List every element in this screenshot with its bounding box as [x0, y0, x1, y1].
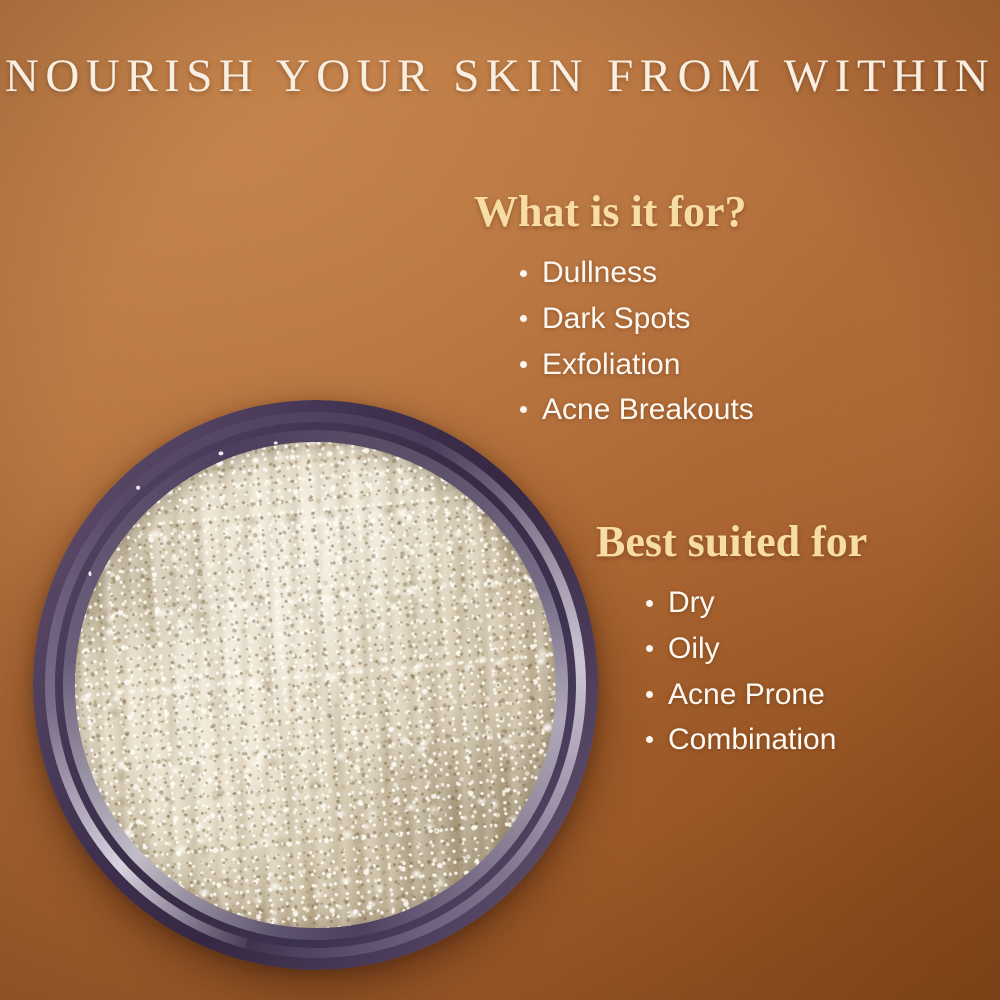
list-item: Dullness — [516, 250, 754, 296]
list-item-label: Acne Breakouts — [542, 393, 754, 426]
page-title: NOURISH YOUR SKIN FROM WITHIN — [0, 52, 1000, 101]
bullet-icon — [520, 270, 527, 277]
list-item: Combination — [642, 717, 867, 763]
list-item: Dry — [642, 580, 867, 626]
bullet-icon — [520, 406, 527, 413]
list-item-label: Dullness — [542, 256, 657, 289]
powder-fine-texture — [55, 422, 577, 948]
skin-type-list: Dry Oily Acne Prone Combination — [642, 580, 867, 762]
section-best-suited-for: Best suited for Dry Oily Acne Prone Comb… — [596, 518, 867, 763]
section-what-is-it-for: What is it for? Dullness Dark Spots Exfo… — [474, 188, 754, 433]
powder-jar-image — [33, 400, 598, 970]
bullet-icon — [646, 691, 653, 698]
list-item-label: Oily — [668, 632, 720, 665]
list-item-label: Exfoliation — [542, 348, 680, 381]
bullet-icon — [520, 315, 527, 322]
bullet-icon — [646, 645, 653, 652]
bullet-icon — [520, 361, 527, 368]
bullet-icon — [646, 600, 653, 607]
list-item: Oily — [642, 626, 867, 672]
list-item: Acne Breakouts — [516, 387, 754, 433]
list-item-label: Combination — [668, 723, 836, 756]
list-item: Dark Spots — [516, 296, 754, 342]
poster-canvas: NOURISH YOUR SKIN FROM WITHIN W — [0, 0, 1000, 1000]
section-heading-best-suited-for: Best suited for — [596, 518, 867, 566]
benefit-list: Dullness Dark Spots Exfoliation Acne Bre… — [516, 250, 754, 432]
powder-jar-body — [9, 376, 622, 993]
list-item-label: Dry — [668, 586, 715, 619]
section-heading-what-is-it-for: What is it for? — [474, 188, 754, 236]
jar-rim-bubble — [88, 571, 91, 576]
list-item-label: Acne Prone — [668, 678, 825, 711]
list-item: Exfoliation — [516, 342, 754, 388]
list-item: Acne Prone — [642, 672, 867, 718]
powder-surface — [55, 422, 577, 948]
bullet-icon — [646, 736, 653, 743]
list-item-label: Dark Spots — [542, 302, 690, 335]
